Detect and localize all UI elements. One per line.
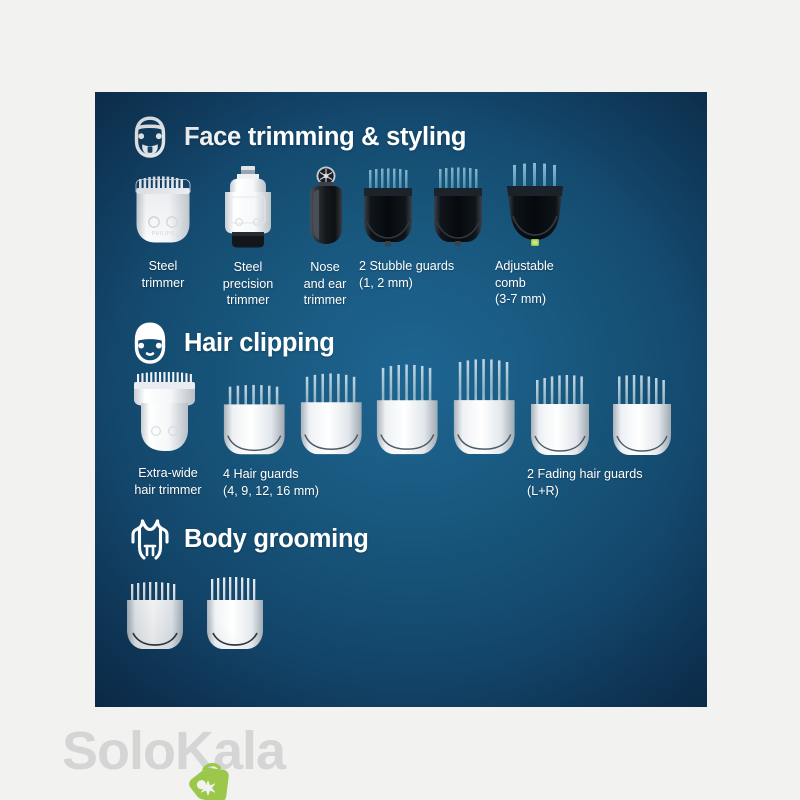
steel-trimmer-image: PHILIPS xyxy=(130,172,196,250)
watermark: SoloKala xyxy=(62,716,332,792)
section-header-body: Body grooming xyxy=(129,516,369,562)
body-comb-small-image xyxy=(123,578,191,654)
body-grooming-combs-art xyxy=(123,574,293,654)
item-body-grooming-combs xyxy=(123,574,293,660)
svg-text:PHILIPS: PHILIPS xyxy=(152,231,175,237)
label-stubble-guards: 2 Stubble guards (1, 2 mm) xyxy=(359,258,454,291)
label-fading-hair-guards: 2 Fading hair guards (L+R) xyxy=(527,466,643,499)
nose-and-ear-trimmer-art xyxy=(296,164,354,250)
fading-hair-guard-right-image xyxy=(609,370,675,460)
price-tag-icon xyxy=(186,760,238,800)
adjustable-comb-image xyxy=(501,162,571,250)
label-adjustable-comb: Adjustable comb (3-7 mm) xyxy=(495,258,554,308)
hair-guard-16mm-image xyxy=(449,356,520,460)
nose-and-ear-trimmer-image xyxy=(296,164,354,250)
male-torso-icon xyxy=(129,516,171,562)
extra-wide-hair-trimmer-art xyxy=(126,367,210,459)
bearded-face-icon xyxy=(129,114,171,160)
hair-guard-4mm-image xyxy=(219,378,290,460)
label-nose-and-ear-trimmer: Nose and ear trimmer xyxy=(304,259,347,309)
item-fading-hair-guards: 2 Fading hair guards (L+R) xyxy=(527,360,692,499)
extra-wide-hair-trimmer-image xyxy=(126,367,210,459)
watermark-text: SoloKala xyxy=(62,720,285,782)
fading-hair-guards-art xyxy=(527,360,692,460)
item-extra-wide-hair-trimmer: Extra-wide hair trimmer xyxy=(113,367,223,498)
body-comb-large-image xyxy=(203,574,271,654)
item-nose-and-ear-trimmer: Nose and ear trimmer xyxy=(280,164,370,309)
stubble-guard-2mm-image xyxy=(429,166,487,250)
label-steel-precision-trimmer: Steel precision trimmer xyxy=(223,259,273,309)
section-header-face: Face trimming & styling xyxy=(129,114,466,160)
item-steel-trimmer: PHILIPS Steel trimmer xyxy=(118,170,208,291)
hair-guard-9mm-image xyxy=(296,368,367,460)
item-hair-guards: 4 Hair guards (4, 9, 12, 16 mm) xyxy=(219,360,519,499)
stubble-guard-1mm-image xyxy=(359,166,417,250)
label-hair-guards: 4 Hair guards (4, 9, 12, 16 mm) xyxy=(223,466,319,499)
hair-guard-12mm-image xyxy=(372,360,443,460)
section-title-hair: Hair clipping xyxy=(184,329,335,358)
item-adjustable-comb: Adjustable comb (3-7 mm) xyxy=(495,162,613,308)
steel-precision-trimmer-image xyxy=(217,164,279,250)
steel-trimmer-art: PHILIPS xyxy=(130,170,196,250)
fading-hair-guard-left-image xyxy=(527,370,593,460)
label-extra-wide-hair-trimmer: Extra-wide hair trimmer xyxy=(134,465,201,498)
item-stubble-guards: 2 Stubble guards (1, 2 mm) xyxy=(359,166,493,291)
hair-guards-art xyxy=(219,360,519,460)
section-title-body: Body grooming xyxy=(184,525,369,554)
product-feature-panel: Face trimming & styling xyxy=(95,92,707,707)
section-title-face: Face trimming & styling xyxy=(184,123,466,152)
label-steel-trimmer: Steel trimmer xyxy=(142,258,185,291)
short-hair-head-icon xyxy=(129,320,171,366)
adjustable-comb-art xyxy=(495,162,613,250)
steel-precision-trimmer-art xyxy=(217,164,279,250)
stubble-guards-art xyxy=(359,166,493,250)
